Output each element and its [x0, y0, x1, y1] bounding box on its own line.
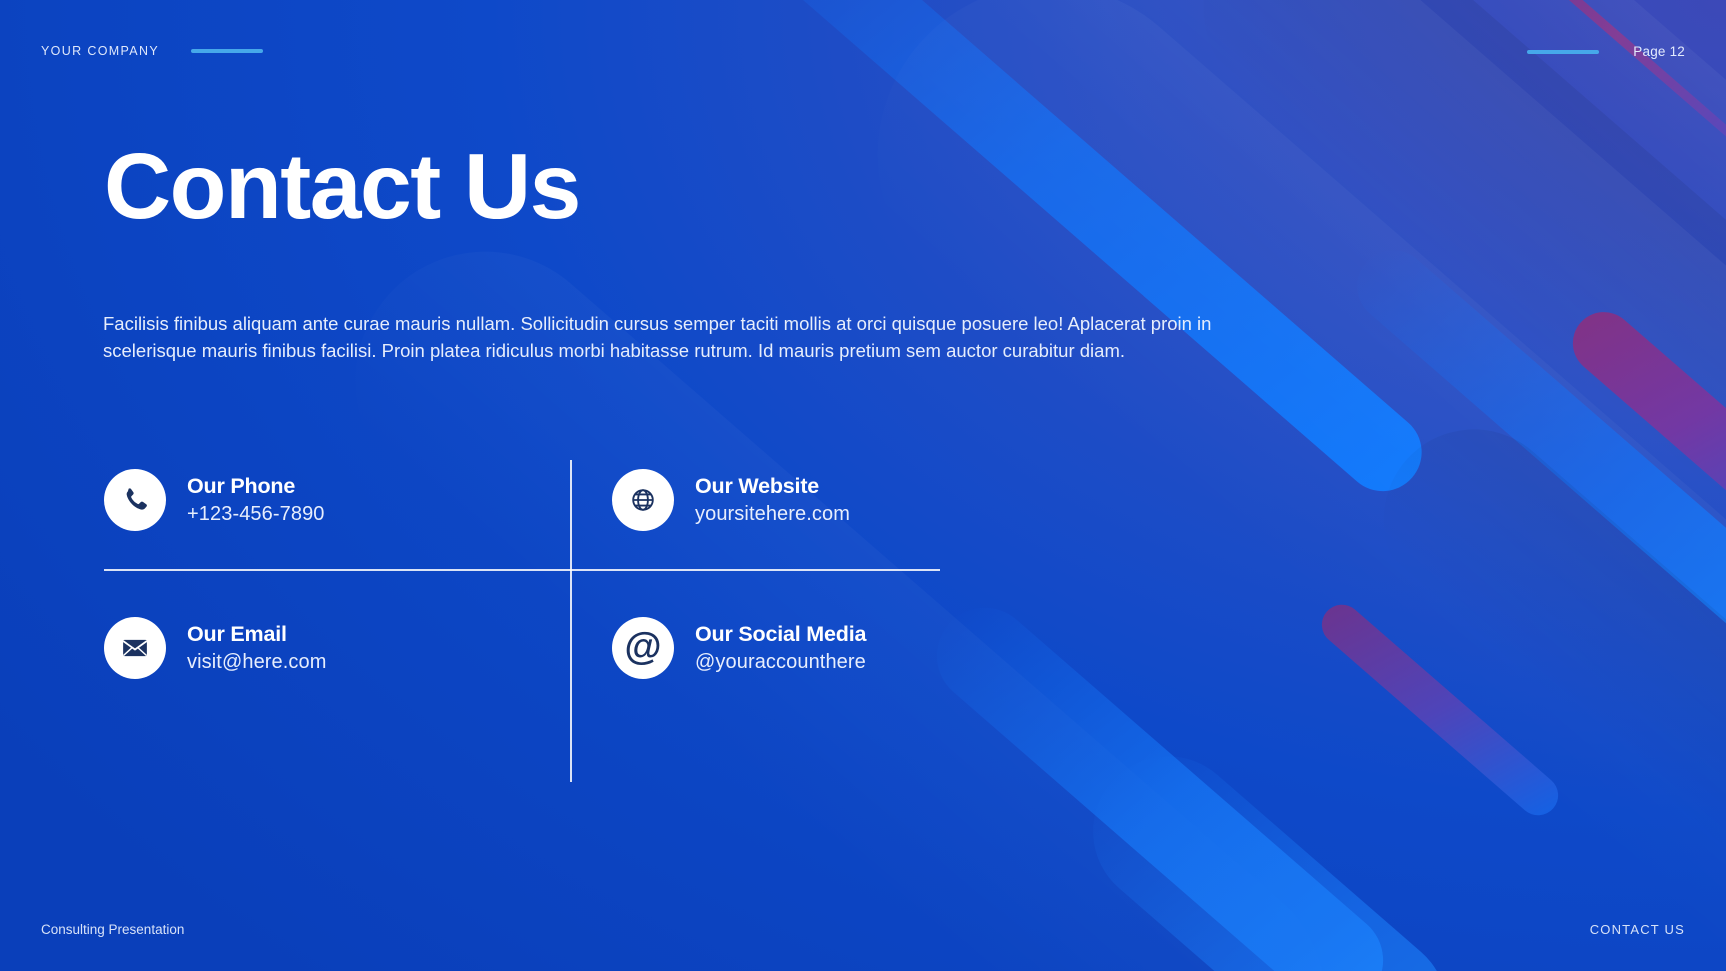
- decorative-diagonal-sheen: [808, 0, 1726, 971]
- contact-value: @youraccounthere: [695, 651, 866, 674]
- page-accent-rule: [1527, 50, 1599, 54]
- globe-icon: [612, 469, 674, 531]
- page-title: Contact Us: [104, 140, 580, 233]
- decorative-purple-streak: [1473, 0, 1726, 219]
- contact-label: Our Email: [187, 622, 327, 647]
- contact-label: Our Website: [695, 474, 850, 499]
- decorative-blue-capsule: [1342, 235, 1726, 696]
- contact-value: yoursitehere.com: [695, 503, 850, 526]
- contact-item-email[interactable]: Our Email visit@here.com: [104, 617, 327, 679]
- intro-paragraph: Facilisis finibus aliquam ante curae mau…: [103, 310, 1263, 365]
- footer-presentation-name: Consulting Presentation: [41, 922, 184, 937]
- decorative-diagonal-shade: [1347, 392, 1726, 971]
- header-right: Page 12: [1527, 44, 1685, 59]
- contact-value: +123-456-7890: [187, 503, 325, 526]
- envelope-icon: [104, 617, 166, 679]
- decorative-blue-capsule: [722, 0, 1437, 507]
- grid-vertical-divider: [570, 460, 572, 782]
- contact-label: Our Phone: [187, 474, 325, 499]
- at-sign-icon: @: [612, 617, 674, 679]
- contact-grid: Our Phone +123-456-7890 Our Website: [104, 455, 944, 700]
- phone-icon: [104, 469, 166, 531]
- slide: YOUR COMPANY Page 12 Contact Us Facilisi…: [0, 0, 1726, 971]
- company-name: YOUR COMPANY: [41, 44, 159, 58]
- grid-horizontal-divider: [104, 569, 940, 571]
- decorative-blue-capsule: [917, 588, 1403, 971]
- contact-item-social-media[interactable]: @ Our Social Media @youraccounthere: [612, 617, 866, 679]
- contact-label: Our Social Media: [695, 622, 866, 647]
- header-accent-rule: [191, 49, 263, 53]
- decorative-purple-capsule: [1560, 299, 1726, 562]
- decorative-blue-capsule: [1062, 726, 1477, 971]
- contact-value: visit@here.com: [187, 651, 327, 674]
- decorative-purple-capsule: [1314, 596, 1567, 823]
- header-left: YOUR COMPANY: [41, 44, 263, 58]
- page-number: Page 12: [1633, 44, 1685, 59]
- contact-item-phone[interactable]: Our Phone +123-456-7890: [104, 469, 325, 531]
- footer-section-name: CONTACT US: [1590, 922, 1685, 937]
- decorative-diagonal-shade: [1158, 0, 1726, 608]
- contact-item-website[interactable]: Our Website yoursitehere.com: [612, 469, 850, 531]
